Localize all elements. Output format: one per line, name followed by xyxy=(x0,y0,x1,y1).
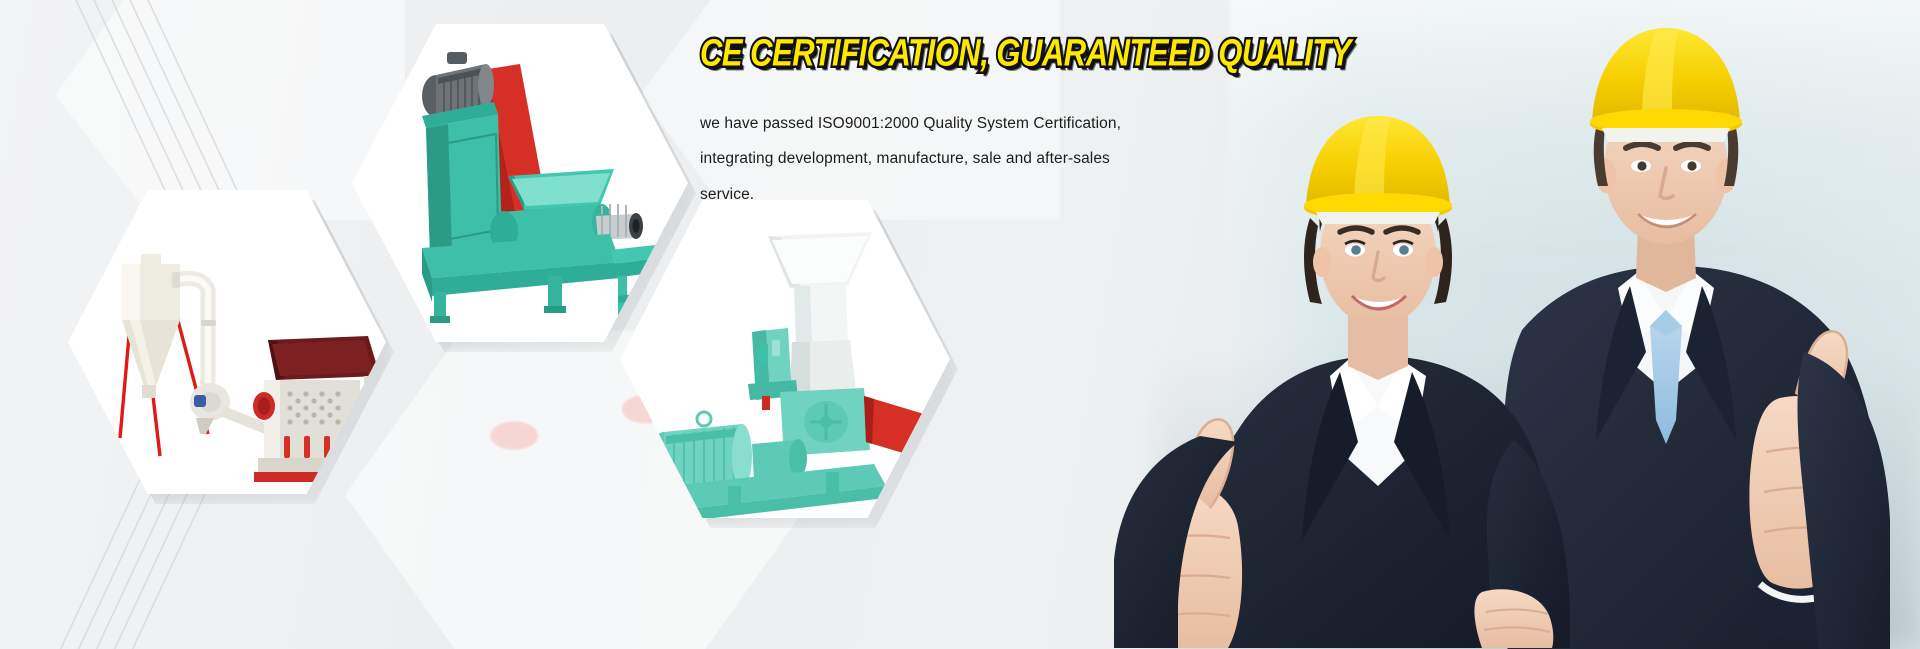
businesswoman-with-hardhat xyxy=(1114,116,1570,648)
business-people-group xyxy=(1090,0,1920,649)
ce-certification-banner: CE CERTIFICATION, GUARANTEED QUALITY we … xyxy=(0,0,1920,649)
